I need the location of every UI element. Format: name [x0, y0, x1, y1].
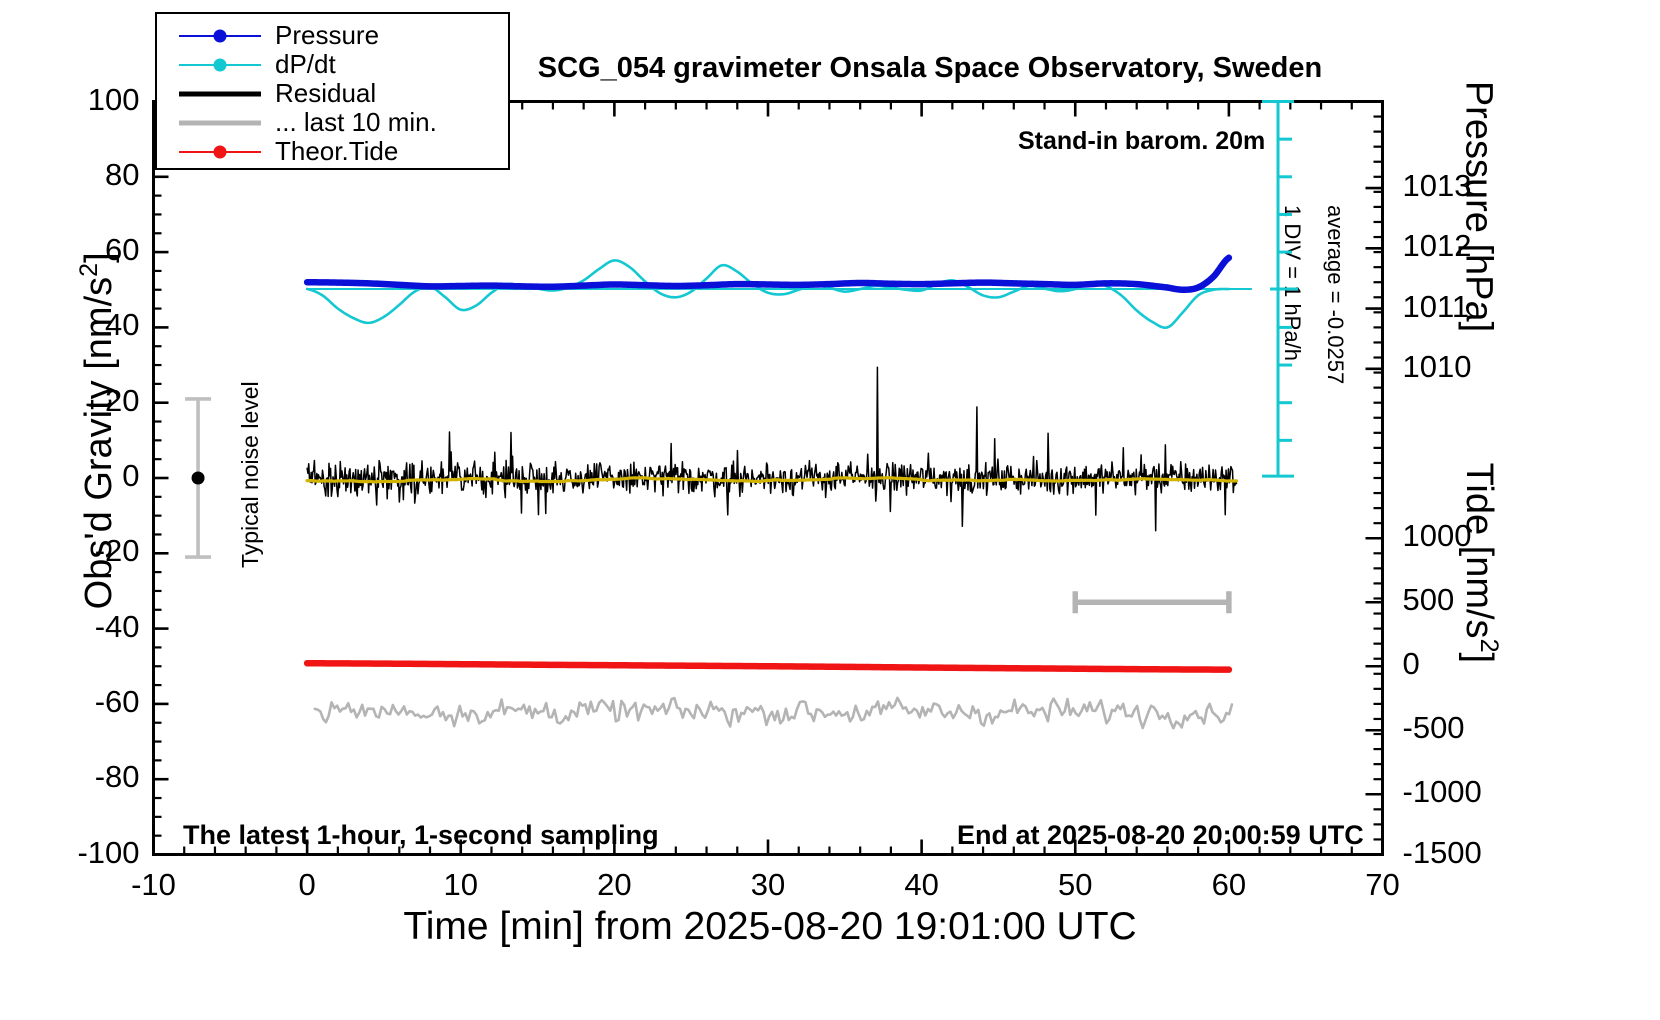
- tide-tick--1500: -1500: [1403, 835, 1518, 871]
- x-tick-60: 60: [1169, 867, 1289, 903]
- y-axis-left-title: Obs'd Gravity [nm/s2]: [75, 111, 121, 751]
- legend-swatch: [179, 28, 261, 44]
- y-axis-tide-title: Tide [nm/s2]: [1457, 373, 1503, 753]
- chart-title: SCG_054 gravimeter Onsala Space Observat…: [420, 52, 1440, 85]
- legend-item-theor-tide[interactable]: Theor.Tide: [157, 137, 508, 166]
- legend-line-icon: [179, 120, 261, 125]
- legend-label: Theor.Tide: [275, 136, 398, 167]
- legend-item-residual[interactable]: Residual: [157, 79, 508, 108]
- legend-item-last-10-min[interactable]: ... last 10 min.: [157, 108, 508, 137]
- y-left-tick-60: 60: [22, 232, 140, 268]
- annotation-dpdt-average: average = -0.0257: [1322, 205, 1348, 384]
- legend-marker-icon: [214, 29, 227, 42]
- x-tick-30: 30: [708, 867, 828, 903]
- y-left-tick-0: 0: [22, 458, 140, 494]
- legend-swatch: [179, 86, 261, 102]
- tide-tick--1000: -1000: [1403, 774, 1518, 810]
- y-left-tick--60: -60: [22, 684, 140, 720]
- pressure-tick-1011: 1011: [1403, 289, 1513, 325]
- legend-swatch: [179, 144, 261, 160]
- legend-swatch: [179, 115, 261, 131]
- x-tick-20: 20: [554, 867, 674, 903]
- pressure-tick-1013: 1013: [1403, 168, 1513, 204]
- x-tick-40: 40: [862, 867, 982, 903]
- legend-line-icon: [179, 91, 261, 96]
- annotation-dpdt-division: 1 DIV = 1 hPa/h: [1279, 205, 1305, 361]
- chart-legend[interactable]: PressuredP/dtResidual... last 10 min.The…: [155, 12, 510, 170]
- legend-marker-icon: [214, 58, 227, 71]
- legend-marker-icon: [214, 145, 227, 158]
- x-tick-10: 10: [401, 867, 521, 903]
- y-left-tick--100: -100: [22, 835, 140, 871]
- y-left-tick-40: 40: [22, 307, 140, 343]
- pressure-tick-1012: 1012: [1403, 228, 1513, 264]
- tide-tick-0: 0: [1403, 646, 1518, 682]
- x-axis-title: Time [min] from 2025-08-20 19:01:00 UTC: [180, 905, 1360, 949]
- tide-tick--500: -500: [1403, 710, 1518, 746]
- x-tick-70: 70: [1323, 867, 1443, 903]
- y-left-tick--40: -40: [22, 609, 140, 645]
- pressure-tick-1010: 1010: [1403, 349, 1513, 385]
- legend-label: ... last 10 min.: [275, 107, 437, 138]
- y-left-tick-20: 20: [22, 383, 140, 419]
- x-tick-0: 0: [247, 867, 367, 903]
- plot-area: [152, 100, 1384, 856]
- legend-swatch: [179, 57, 261, 73]
- y-left-tick--20: -20: [22, 533, 140, 569]
- annotation-end-time: End at 2025-08-20 20:00:59 UTC: [957, 820, 1364, 851]
- chart-page: Obs'd Gravity [nm/s2] Time [min] from 20…: [0, 0, 1660, 1020]
- annotation-sampling-note: The latest 1-hour, 1-second sampling: [183, 820, 659, 851]
- tide-tick-1000: 1000: [1403, 518, 1518, 554]
- x-tick--10: -10: [94, 867, 214, 903]
- y-left-tick-100: 100: [22, 82, 140, 118]
- y-left-tick--80: -80: [22, 759, 140, 795]
- legend-label: Residual: [275, 78, 376, 109]
- legend-label: Pressure: [275, 20, 379, 51]
- legend-item-pressure[interactable]: Pressure: [157, 21, 508, 50]
- annotation-typical-noise-level: Typical noise level: [237, 381, 264, 568]
- x-tick-50: 50: [1015, 867, 1135, 903]
- legend-item-dp-dt[interactable]: dP/dt: [157, 50, 508, 79]
- annotation-stand-in-barometer: Stand-in barom. 20m: [1018, 127, 1265, 156]
- legend-label: dP/dt: [275, 49, 336, 80]
- tide-tick-500: 500: [1403, 582, 1518, 618]
- y-left-tick-80: 80: [22, 157, 140, 193]
